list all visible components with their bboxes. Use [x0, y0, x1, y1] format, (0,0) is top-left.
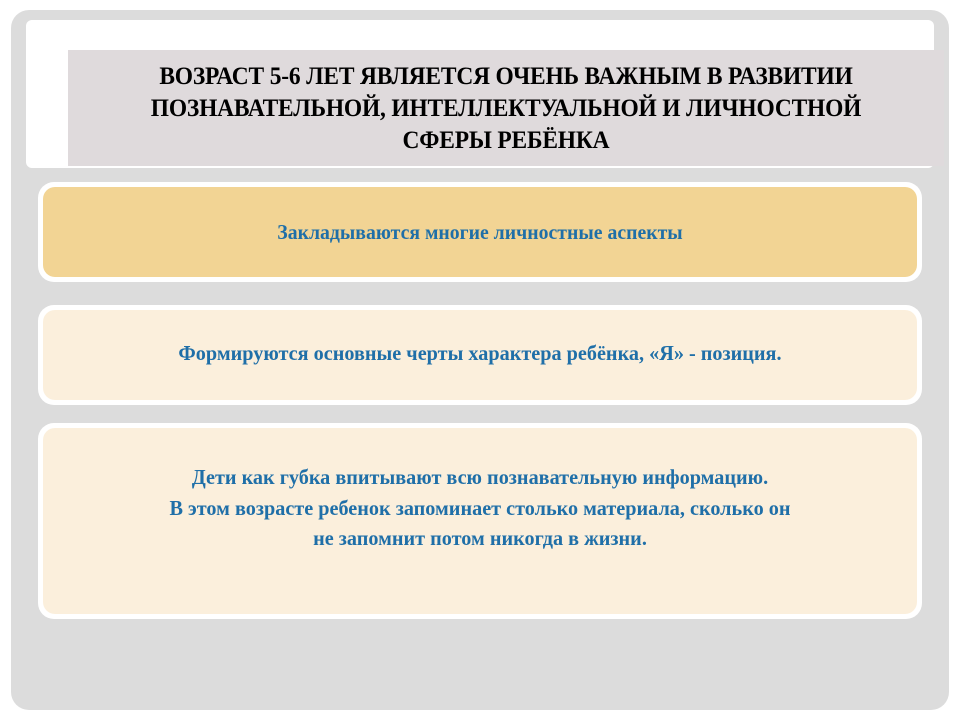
title-line-1: ВОЗРАСТ 5-6 ЛЕТ ЯВЛЯЕТСЯ ОЧЕНЬ ВАЖНЫМ В …	[112, 60, 900, 92]
content-box-1-fill: Закладываются многие личностные аспекты	[43, 187, 917, 277]
slide-title-frame: ВОЗРАСТ 5-6 ЛЕТ ЯВЛЯЕТСЯ ОЧЕНЬ ВАЖНЫМ В …	[26, 20, 934, 168]
box-2-line-1: Формируются основные черты характера реб…	[90, 340, 870, 368]
content-box-3-text: Дети как губка впитывают всю познаватель…	[90, 462, 870, 554]
box-1-line-1: Закладываются многие личностные аспекты	[90, 219, 870, 246]
box-3-line-1: Дети как губка впитывают всю познаватель…	[90, 462, 870, 493]
content-box-3-fill: Дети как губка впитывают всю познаватель…	[43, 428, 917, 614]
content-box-2-fill: Формируются основные черты характера реб…	[43, 310, 917, 400]
content-box-1-text: Закладываются многие личностные аспекты	[90, 219, 870, 246]
content-box-2-text: Формируются основные черты характера реб…	[90, 340, 870, 368]
presentation-slide: ВОЗРАСТ 5-6 ЛЕТ ЯВЛЯЕТСЯ ОЧЕНЬ ВАЖНЫМ В …	[0, 0, 960, 720]
box-3-line-3: не запомнит потом никогда в жизни.	[90, 523, 870, 554]
title-line-3: СФЕРЫ РЕБЁНКА	[112, 124, 900, 156]
content-box-2: Формируются основные черты характера реб…	[38, 305, 922, 405]
box-3-line-2: В этом возрасте ребенок запоминает столь…	[90, 493, 870, 524]
slide-title-text: ВОЗРАСТ 5-6 ЛЕТ ЯВЛЯЕТСЯ ОЧЕНЬ ВАЖНЫМ В …	[112, 60, 900, 156]
content-box-1: Закладываются многие личностные аспекты	[38, 182, 922, 282]
content-box-3: Дети как губка впитывают всю познаватель…	[38, 423, 922, 619]
slide-title-panel: ВОЗРАСТ 5-6 ЛЕТ ЯВЛЯЕТСЯ ОЧЕНЬ ВАЖНЫМ В …	[68, 50, 944, 166]
title-line-2: ПОЗНАВАТЕЛЬНОЙ, ИНТЕЛЛЕКТУАЛЬНОЙ И ЛИЧНО…	[112, 92, 900, 124]
